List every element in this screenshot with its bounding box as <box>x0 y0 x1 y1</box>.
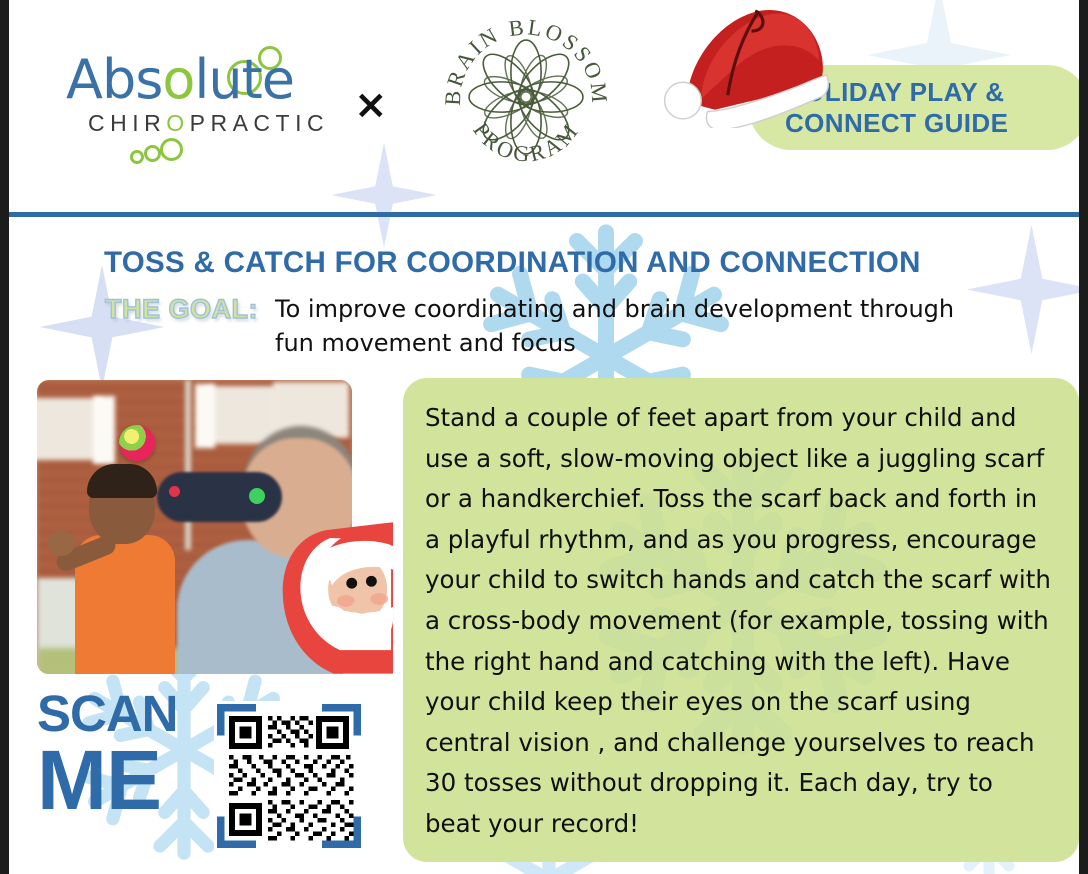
holiday-guide-page: Absolute CHIROPRACTIC × <box>0 0 1088 874</box>
page-inner: Absolute CHIROPRACTIC × <box>9 0 1079 874</box>
page-title: TOSS & CATCH FOR COORDINATION AND CONNEC… <box>104 246 921 280</box>
bubble-icon <box>144 145 161 162</box>
logo-arc-top: BRAIN BLOSSOM <box>440 14 613 106</box>
bubble-icon <box>160 138 183 161</box>
santa-hat-icon <box>659 0 844 128</box>
santa-peeking-icon <box>277 512 395 680</box>
logo-subtitle: CHIROPRACTIC <box>88 110 329 137</box>
header-divider <box>9 212 1079 217</box>
goal-label: THE GOAL: <box>105 294 258 325</box>
collaboration-x-icon: × <box>354 85 388 125</box>
instructions-card: Stand a couple of feet apart from your c… <box>403 378 1079 862</box>
goal-text: To improve coordinating and brain develo… <box>275 292 995 360</box>
scan-line-2: ME <box>37 740 178 820</box>
scan-me-label: SCAN ME <box>37 688 178 820</box>
brain-blossom-program-logo: BRAIN BLOSSOM PROGRAM <box>437 8 615 186</box>
qr-code-icon[interactable] <box>214 700 364 852</box>
page-header: Absolute CHIROPRACTIC × <box>9 0 1079 215</box>
instructions-text: Stand a couple of feet apart from your c… <box>425 398 1053 845</box>
logo-arc-bottom: PROGRAM <box>468 117 584 166</box>
absolute-chiropractic-logo: Absolute CHIROPRACTIC <box>64 38 319 148</box>
bubble-icon <box>130 150 144 164</box>
logo-word: Absolute <box>66 48 294 111</box>
goal-row: THE GOAL: To improve coordinating and br… <box>105 292 1035 360</box>
